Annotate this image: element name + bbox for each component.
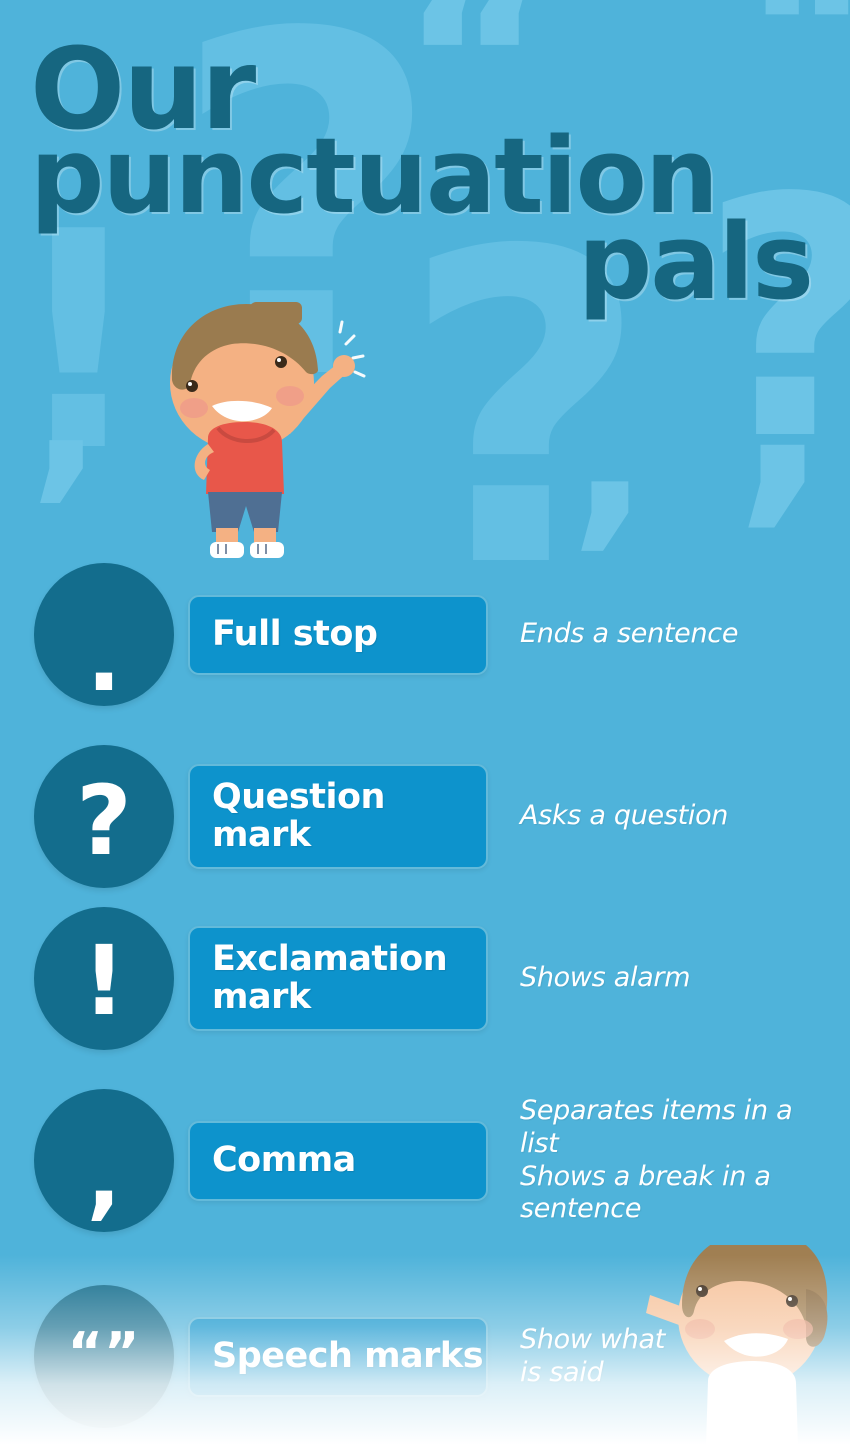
label-text: Comma <box>212 1142 356 1179</box>
list-item[interactable]: “” Speech marks Show what is said <box>0 1285 850 1428</box>
period-icon: . <box>87 613 122 705</box>
description-full-stop: Ends a sentence <box>520 618 850 651</box>
mark-badge-exclamation-mark: ! <box>34 907 174 1050</box>
mark-badge-full-stop: . <box>34 563 174 706</box>
label-box-question-mark[interactable]: Question mark <box>188 764 488 868</box>
description-comma: Separates items in a list Shows a break … <box>520 1095 850 1227</box>
label-box-comma[interactable]: Comma <box>188 1121 488 1201</box>
watermark-comma-icon: , <box>570 360 650 539</box>
mark-badge-speech-marks: “” <box>34 1285 174 1428</box>
exclamation-mark-icon: ! <box>82 933 126 1029</box>
boy-waving-illustration <box>150 288 380 563</box>
mark-badge-comma: , <box>34 1089 174 1232</box>
description-question-mark: Asks a question <box>520 800 850 833</box>
label-box-exclamation-mark[interactable]: Exclamation mark <box>188 926 488 1030</box>
label-text: Exclamation mark <box>212 941 486 1015</box>
label-text: Speech marks <box>212 1338 483 1375</box>
list-item[interactable]: , Comma Separates items in a list Shows … <box>0 1089 850 1232</box>
label-text: Full stop <box>212 616 377 653</box>
list-item[interactable]: ? Question mark Asks a question <box>0 745 850 888</box>
speech-marks-icon: “” <box>68 1326 141 1380</box>
watermark-comma-icon: , <box>735 300 830 513</box>
question-mark-icon: ? <box>76 773 132 869</box>
watermark-comma-icon: , <box>30 330 102 492</box>
label-box-full-stop[interactable]: Full stop <box>188 595 488 675</box>
list-item[interactable]: ! Exclamation mark Shows alarm <box>0 907 850 1050</box>
mark-badge-question-mark: ? <box>34 745 174 888</box>
punctuation-poster: “ “ ? ? ? , , ! , Our punctuation pals <box>0 0 850 1445</box>
comma-icon: , <box>87 1131 122 1223</box>
label-box-speech-marks[interactable]: Speech marks <box>188 1317 488 1397</box>
page-title: Our punctuation pals <box>0 42 850 307</box>
description-exclamation-mark: Shows alarm <box>520 962 850 995</box>
list-item[interactable]: . Full stop Ends a sentence <box>0 563 850 706</box>
description-speech-marks: Show what is said <box>520 1324 710 1390</box>
label-text: Question mark <box>212 779 486 853</box>
